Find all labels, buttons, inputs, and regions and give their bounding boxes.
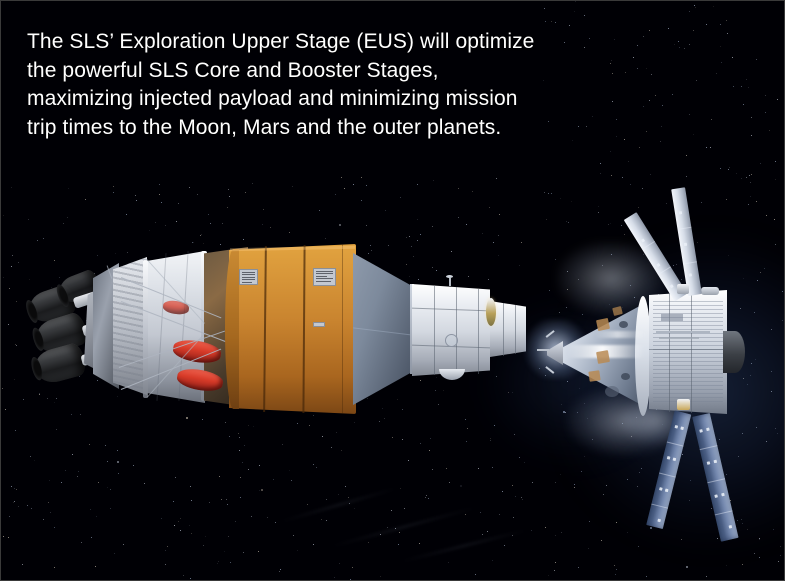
star: [175, 477, 176, 478]
star: [201, 234, 202, 235]
star: [759, 538, 760, 539]
star: [12, 255, 13, 256]
star: [468, 276, 469, 277]
star: [228, 536, 229, 537]
star: [429, 450, 430, 451]
star: [208, 214, 209, 215]
star: [451, 251, 452, 252]
star: [11, 266, 12, 267]
star: [522, 499, 523, 500]
star: [49, 480, 50, 481]
star: [720, 24, 721, 25]
star: [588, 548, 589, 549]
star: [693, 134, 694, 135]
star: [748, 204, 749, 205]
star: [97, 380, 98, 381]
star: [217, 563, 218, 564]
star: [203, 545, 204, 546]
star: [221, 499, 222, 500]
star: [584, 15, 585, 16]
star: [167, 546, 168, 547]
star: [417, 219, 418, 220]
star: [432, 469, 433, 470]
star: [229, 436, 230, 437]
star: [159, 184, 160, 185]
star: [574, 487, 575, 488]
star: [11, 187, 12, 188]
star: [380, 534, 381, 535]
star: [240, 497, 241, 498]
star: [600, 163, 601, 164]
star: [404, 508, 405, 509]
star: [85, 199, 86, 200]
star: [313, 544, 314, 545]
star: [578, 279, 579, 280]
star: [161, 202, 162, 203]
star: [313, 415, 314, 416]
osa-panel-seam-2: [456, 287, 457, 375]
star: [548, 121, 549, 122]
star: [398, 544, 399, 545]
star: [711, 119, 712, 120]
star: [544, 8, 545, 9]
star: [15, 344, 16, 345]
star: [611, 60, 612, 61]
star: [293, 535, 294, 536]
star: [18, 506, 19, 507]
star: [95, 566, 96, 567]
osa-panel-seam-1: [434, 286, 435, 375]
star: [159, 194, 160, 195]
star: [759, 539, 760, 540]
star: [633, 57, 634, 58]
star: [107, 461, 108, 462]
star: [749, 175, 750, 176]
star: [554, 570, 555, 571]
star: [387, 527, 388, 528]
crew-module-window-2: [621, 373, 630, 380]
star: [149, 230, 150, 231]
star: [729, 167, 730, 168]
star: [515, 496, 516, 497]
star: [227, 207, 228, 208]
star: [521, 242, 522, 243]
star: [385, 210, 386, 211]
star: [432, 267, 433, 268]
star: [133, 465, 134, 466]
star: [59, 277, 60, 278]
star: [180, 530, 181, 531]
star: [50, 512, 51, 513]
star: [224, 551, 225, 552]
star: [289, 232, 290, 233]
caption-text: The SLS’ Exploration Upper Stage (EUS) w…: [27, 28, 537, 142]
star: [681, 539, 682, 540]
star: [371, 250, 372, 251]
star: [176, 221, 177, 222]
star: [775, 179, 776, 180]
star: [105, 445, 106, 446]
star: [598, 212, 599, 213]
star: [478, 468, 479, 469]
star: [720, 168, 721, 169]
star: [243, 239, 244, 240]
star: [420, 234, 421, 235]
star: [751, 135, 752, 136]
star: [165, 550, 166, 551]
star: [616, 522, 617, 523]
star: [189, 187, 190, 188]
star: [338, 494, 339, 495]
star: [173, 501, 174, 502]
star: [754, 553, 755, 554]
star: [366, 225, 367, 226]
star: [512, 485, 513, 486]
service-module-engine-bell: [723, 331, 745, 373]
star: [244, 445, 245, 446]
star: [662, 105, 663, 106]
star: [674, 44, 675, 45]
osa-panel-seam-3: [478, 289, 479, 374]
star: [123, 544, 124, 545]
star: [262, 224, 263, 225]
star: [732, 57, 733, 58]
star: [572, 140, 573, 141]
star: [716, 73, 717, 74]
star: [220, 244, 221, 245]
star: [335, 194, 336, 195]
star: [519, 457, 520, 458]
star: [480, 512, 481, 513]
star: [706, 576, 707, 577]
star: [361, 177, 362, 178]
star: [548, 575, 549, 576]
star: [408, 460, 409, 461]
star: [16, 345, 17, 346]
star: [560, 198, 561, 199]
star: [399, 532, 400, 533]
star: [555, 259, 556, 260]
star: [773, 529, 774, 530]
star: [578, 126, 579, 127]
star: [289, 470, 290, 471]
star: [472, 191, 473, 192]
star: [78, 471, 79, 472]
star: [693, 30, 694, 31]
star: [96, 516, 97, 517]
star: [180, 518, 181, 519]
star: [646, 131, 647, 132]
star: [650, 174, 651, 175]
star: [610, 63, 611, 64]
star: [426, 495, 427, 496]
star: [780, 555, 781, 556]
star: [564, 42, 565, 43]
star: [627, 532, 628, 533]
star: [107, 487, 108, 488]
star: [136, 200, 137, 201]
star: [625, 72, 626, 73]
star: [202, 419, 203, 420]
star: [686, 155, 687, 156]
star: [161, 518, 162, 519]
star: [67, 217, 68, 218]
star: [661, 126, 662, 127]
star: [368, 253, 369, 254]
star: [628, 161, 629, 162]
star: [205, 536, 206, 537]
star: [551, 21, 552, 22]
star: [466, 224, 467, 225]
star: [624, 234, 625, 235]
star: [696, 80, 697, 81]
star: [15, 430, 16, 431]
star: [589, 38, 590, 39]
star: [598, 206, 599, 207]
star: [418, 279, 419, 280]
star: [411, 246, 412, 247]
star: [3, 277, 4, 278]
star: [352, 567, 353, 568]
star: [388, 245, 389, 246]
star: [14, 488, 15, 489]
star: [574, 11, 575, 12]
star: [487, 531, 488, 532]
star: [419, 543, 420, 544]
star: [39, 393, 40, 394]
star: [637, 68, 638, 69]
osa-fwd-seam-2: [515, 305, 516, 354]
debris-streak-1: [281, 488, 397, 522]
star: [11, 486, 12, 487]
star: [569, 25, 570, 26]
presentation-slide: The SLS’ Exploration Upper Stage (EUS) w…: [0, 0, 785, 581]
star: [54, 527, 55, 528]
star: [512, 535, 513, 536]
star: [200, 235, 201, 236]
star: [189, 525, 190, 526]
star: [325, 238, 326, 239]
star: [482, 534, 483, 535]
star: [240, 477, 241, 478]
star: [5, 409, 6, 410]
star: [417, 184, 418, 185]
tank-weld-seam-3: [342, 244, 343, 413]
star: [292, 186, 293, 187]
star: [499, 214, 500, 215]
sm-belt-seam: [649, 349, 727, 350]
star: [345, 486, 346, 487]
star: [210, 223, 211, 224]
star: [309, 425, 310, 426]
crew-module-tile-2: [596, 350, 610, 364]
star: [273, 479, 274, 480]
star: [267, 517, 268, 518]
star: [544, 192, 545, 193]
osa-antenna-dome: [439, 369, 465, 380]
crew-module-hatch: [605, 386, 619, 397]
service-module-rcs-pod: [701, 287, 719, 295]
star: [13, 502, 14, 503]
star: [428, 498, 429, 499]
star: [448, 562, 449, 563]
star: [54, 260, 55, 261]
star: [467, 428, 468, 429]
star: [361, 200, 362, 201]
star: [567, 289, 568, 290]
star: [555, 535, 556, 536]
star: [275, 522, 276, 523]
star: [777, 99, 778, 100]
star: [261, 489, 263, 491]
sm-handrail: [656, 331, 710, 333]
star: [37, 240, 38, 241]
star: [549, 290, 550, 291]
star: [348, 497, 349, 498]
debris-streak-3: [401, 530, 527, 562]
star: [498, 255, 499, 256]
star: [165, 225, 166, 226]
star: [436, 377, 437, 378]
star: [252, 183, 253, 184]
star: [519, 265, 520, 266]
star: [334, 577, 335, 578]
star: [465, 514, 466, 515]
star: [209, 502, 210, 503]
star: [193, 242, 194, 243]
star: [27, 505, 28, 506]
star: [178, 203, 179, 204]
star: [71, 414, 72, 415]
star: [630, 184, 631, 185]
star: [248, 425, 249, 426]
star: [397, 399, 398, 400]
star: [127, 252, 128, 253]
star: [420, 443, 421, 444]
star: [259, 465, 260, 466]
debris-streak-2: [331, 507, 476, 547]
star: [350, 579, 351, 580]
star: [23, 399, 24, 400]
star: [689, 11, 690, 12]
star: [39, 394, 40, 395]
star: [575, 1, 576, 2]
star: [759, 557, 760, 558]
star: [502, 491, 503, 492]
star: [668, 28, 669, 29]
star: [751, 174, 752, 175]
star: [3, 536, 4, 537]
star: [9, 516, 10, 517]
star: [339, 224, 341, 226]
tank-placard-left: [239, 269, 258, 285]
star: [545, 21, 546, 22]
star: [615, 574, 616, 575]
star: [646, 576, 647, 577]
crew-module-glare-secondary: [595, 331, 645, 338]
star: [638, 546, 639, 547]
star: [524, 462, 525, 463]
star: [400, 197, 401, 198]
star: [192, 242, 193, 243]
star: [686, 566, 688, 568]
sm-equipment-block: [661, 314, 683, 321]
star: [339, 563, 340, 564]
star: [741, 178, 742, 179]
star: [297, 550, 298, 551]
star: [679, 47, 680, 48]
star: [406, 237, 407, 238]
star: [63, 223, 64, 224]
star: [766, 215, 767, 216]
star: [460, 485, 462, 487]
star: [543, 80, 544, 81]
star: [258, 551, 259, 552]
star: [191, 533, 192, 534]
star: [545, 527, 546, 528]
star: [117, 396, 118, 397]
star: [425, 497, 426, 498]
star: [578, 567, 579, 568]
star: [765, 112, 766, 113]
tank-placard-small: [313, 322, 325, 327]
star: [235, 521, 236, 522]
crew-module-tile-3: [588, 370, 600, 381]
star: [18, 262, 19, 263]
star: [291, 480, 292, 481]
star: [728, 169, 729, 170]
star: [721, 62, 722, 63]
star: [555, 482, 556, 483]
star: [191, 500, 192, 501]
star: [592, 116, 593, 117]
star: [174, 525, 175, 526]
star: [319, 210, 320, 211]
star: [726, 199, 727, 200]
star: [736, 173, 737, 174]
star: [655, 95, 656, 96]
star: [219, 476, 220, 477]
star: [165, 564, 166, 565]
star: [280, 569, 281, 570]
star: [263, 209, 264, 210]
star: [746, 79, 747, 80]
star: [706, 147, 707, 148]
star: [774, 219, 775, 220]
star: [16, 301, 17, 302]
star: [584, 47, 585, 48]
star: [608, 224, 609, 225]
star: [190, 578, 191, 579]
star: [270, 227, 271, 228]
star: [197, 194, 198, 195]
star: [8, 537, 9, 538]
star: [117, 450, 118, 451]
osa-mast-tip: [446, 275, 453, 278]
sm-seam-1: [669, 292, 670, 412]
star: [190, 486, 191, 487]
star: [313, 464, 314, 465]
star: [367, 398, 368, 399]
star: [614, 39, 615, 40]
star: [382, 408, 383, 409]
star: [229, 196, 230, 197]
star: [765, 95, 766, 96]
star: [336, 432, 337, 433]
star: [97, 255, 98, 256]
star: [316, 467, 317, 468]
star: [230, 562, 231, 563]
